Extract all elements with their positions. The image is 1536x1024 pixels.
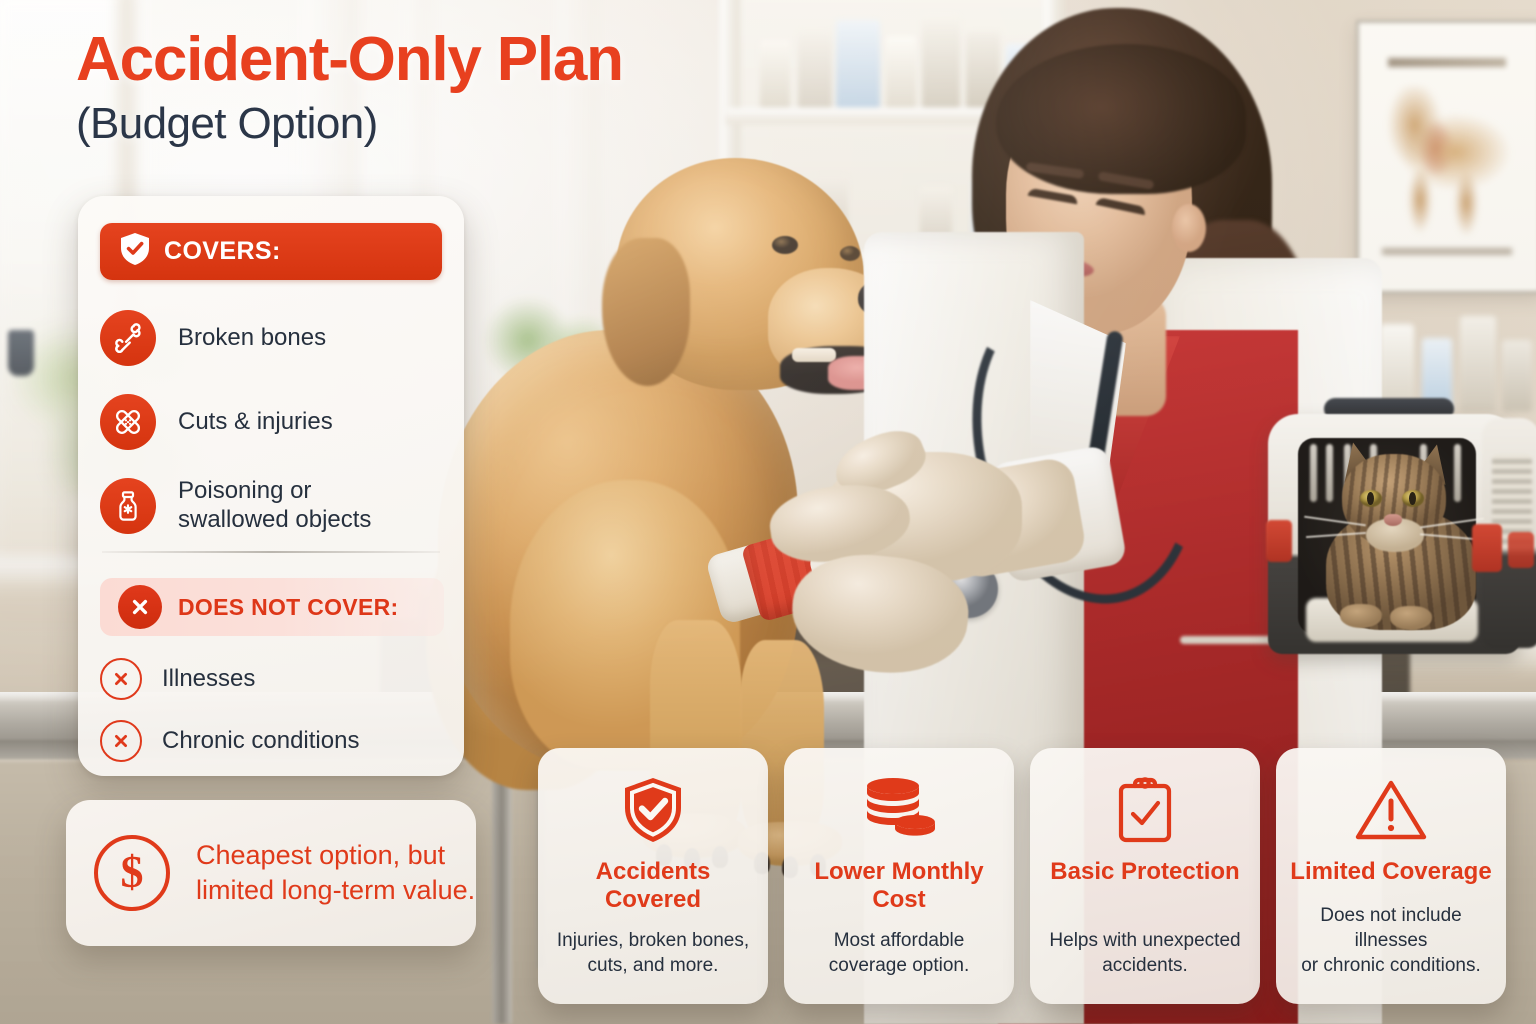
cat-pupil <box>1409 492 1416 505</box>
vet-ear <box>1172 204 1206 252</box>
does-not-cover-label: DOES NOT COVER: <box>178 594 398 621</box>
covers-banner-label: COVERS: <box>164 237 281 266</box>
feature-card-limited-coverage: Limited Coverage Does not include illnes… <box>1276 748 1506 1004</box>
page-subtitle: (Budget Option) <box>76 101 623 147</box>
warning-triangle-icon <box>1354 774 1428 846</box>
covers-item-broken-bones: Broken bones <box>100 296 444 380</box>
feature-card-accidents-covered: Accidents Covered Injuries, broken bones… <box>538 748 768 1004</box>
headline-block: Accident-Only Plan (Budget Option) <box>76 28 623 147</box>
x-circle-outline-icon <box>100 720 142 762</box>
cat-paw <box>1340 604 1382 628</box>
cat-paw <box>1390 606 1432 630</box>
coverage-card: COVERS: Broken bones <box>78 196 464 776</box>
dog-eye <box>772 236 798 254</box>
feature-card-title: Accidents Covered <box>552 858 754 914</box>
feature-card-desc: Does not include illnessesor chronic con… <box>1290 903 1492 986</box>
poster-caption-text <box>1382 248 1512 255</box>
covers-item-poisoning: Poisoning orswallowed objects <box>100 464 444 548</box>
covers-item-cuts-injuries: Cuts & injuries <box>100 380 444 464</box>
medicine-bottle <box>760 40 790 110</box>
shield-check-filled-icon <box>622 774 684 846</box>
does-not-cover-item-illnesses: Illnesses <box>100 648 444 710</box>
does-not-cover-banner: DOES NOT COVER: <box>100 578 444 636</box>
covers-item-label: Broken bones <box>178 324 326 353</box>
poster-dog-illustration <box>1382 86 1518 236</box>
infographic-canvas: Accident-Only Plan (Budget Option) COVER… <box>0 0 1536 1024</box>
dollar-circle-icon: $ <box>94 835 170 911</box>
does-not-cover-item-label: Chronic conditions <box>162 727 359 755</box>
carrier-door-bar <box>1326 444 1333 502</box>
coin-stack-icon <box>861 774 937 846</box>
medicine-bottle <box>798 30 832 110</box>
medicine-box <box>836 20 880 110</box>
feature-card-desc: Helps with unexpectedaccidents. <box>1049 928 1240 986</box>
cheapest-option-callout: $ Cheapest option, butlimited long-term … <box>66 800 476 946</box>
pet-carrier <box>1268 392 1536 678</box>
dog-ear <box>602 238 690 386</box>
broken-bones-icon <box>100 310 156 366</box>
covers-banner: COVERS: <box>100 223 442 280</box>
page-title: Accident-Only Plan <box>76 28 623 91</box>
clipboard-check-icon <box>1115 774 1175 846</box>
covers-item-label: Poisoning orswallowed objects <box>178 477 371 535</box>
covers-list: Broken bones <box>100 296 444 548</box>
shield-check-icon <box>120 232 150 271</box>
bandage-icon <box>100 394 156 450</box>
cheapest-option-text: Cheapest option, butlimited long-term va… <box>196 838 475 907</box>
feature-card-lower-monthly-cost: Lower MonthlyCost Most affordablecoverag… <box>784 748 1014 1004</box>
dog-teeth <box>792 348 836 362</box>
wall-clip <box>8 330 34 376</box>
covers-item-label: Cuts & injuries <box>178 408 333 437</box>
carrier-latch <box>1266 520 1292 562</box>
cat-pupil <box>1367 492 1374 505</box>
feature-card-desc: Injuries, broken bones,cuts, and more. <box>557 928 749 986</box>
poster-title-text <box>1388 58 1506 67</box>
feature-card-title: Limited Coverage <box>1290 858 1491 886</box>
feature-card-desc: Most affordablecoverage option. <box>829 928 970 986</box>
does-not-cover-list: Illnesses Chronic conditions <box>100 648 444 772</box>
carrier-door-bar <box>1454 444 1461 502</box>
poison-bottle-icon <box>100 478 156 534</box>
exam-table-leg <box>492 758 512 1024</box>
carrier-latch <box>1508 532 1534 568</box>
x-circle-solid-icon <box>118 585 162 629</box>
cat-nose <box>1384 514 1402 526</box>
feature-card-title: Lower MonthlyCost <box>814 858 983 914</box>
section-divider <box>102 551 440 553</box>
carrier-door-bar <box>1310 444 1317 502</box>
feature-card-strip: Accidents Covered Injuries, broken bones… <box>538 748 1506 1004</box>
feature-card-basic-protection: Basic Protection Helps with unexpectedac… <box>1030 748 1260 1004</box>
dog-eye <box>840 246 860 261</box>
carrier-latch <box>1472 524 1502 572</box>
feature-card-title: Basic Protection <box>1050 858 1239 886</box>
does-not-cover-item-chronic: Chronic conditions <box>100 710 444 772</box>
does-not-cover-item-label: Illnesses <box>162 665 255 693</box>
x-circle-outline-icon <box>100 658 142 700</box>
